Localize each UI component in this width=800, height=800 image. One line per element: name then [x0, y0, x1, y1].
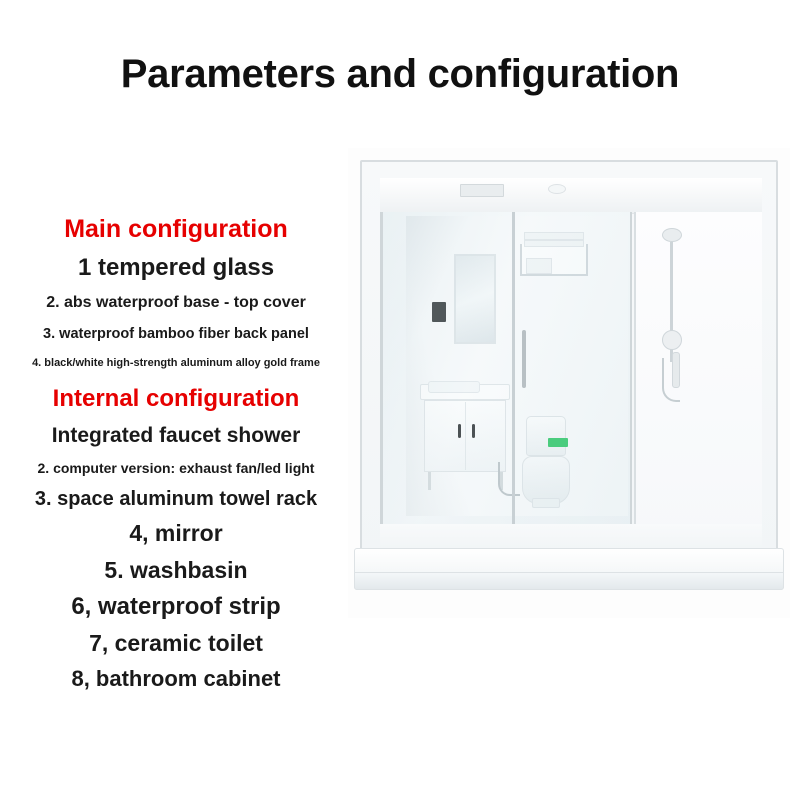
washbasin-bowl: [428, 381, 480, 393]
main-config-item-4: 4. black/white high-strength aluminum al…: [0, 357, 352, 369]
internal-config-item-8: 8, bathroom cabinet: [0, 666, 352, 692]
faucet-valve-icon: [662, 330, 682, 350]
towel-hanging: [526, 258, 552, 274]
internal-config-item-1: Integrated faucet shower: [0, 424, 352, 448]
mirror-element: [454, 254, 496, 344]
cabinet-door-split: [465, 402, 466, 470]
page-root: Parameters and configuration Main config…: [0, 0, 800, 800]
photo-frame: [348, 148, 790, 618]
led-light-icon: [548, 184, 566, 194]
specification-text-column: Main configuration 1 tempered glass 2. a…: [0, 215, 352, 692]
base-front-lip: [354, 572, 784, 590]
shower-head-icon: [662, 228, 682, 242]
page-title: Parameters and configuration: [0, 52, 800, 97]
internal-config-item-5: 5. washbasin: [0, 557, 352, 584]
internal-config-item-2: 2. computer version: exhaust fan/led lig…: [0, 460, 352, 476]
shower-cabin-body: [360, 160, 778, 572]
internal-config-item-7: 7, ceramic toilet: [0, 630, 352, 657]
towel-middle: [524, 240, 584, 247]
cabin-ceiling: [380, 178, 762, 214]
shower-compartment: [634, 212, 762, 552]
cabinet-leg-left: [428, 472, 431, 490]
glass-door-divider: [512, 212, 515, 552]
wall-fixture-icon: [432, 302, 446, 322]
main-config-item-1: 1 tempered glass: [0, 254, 352, 282]
hand-shower-icon: [672, 352, 680, 388]
internal-config-item-6: 6, waterproof strip: [0, 593, 352, 621]
glass-door-handle: [522, 330, 526, 388]
internal-config-item-3: 3. space aluminum towel rack: [0, 488, 352, 511]
main-config-item-2: 2. abs waterproof base - top cover: [0, 294, 352, 312]
internal-config-item-4: 4, mirror: [0, 520, 352, 547]
water-hose: [498, 462, 520, 496]
section-heading-internal-configuration: Internal configuration: [0, 385, 352, 413]
product-photo: [348, 148, 790, 618]
main-config-item-3: 3. waterproof bamboo fiber back panel: [0, 326, 352, 342]
section-heading-main-configuration: Main configuration: [0, 215, 352, 244]
toilet-sticker: [548, 438, 568, 447]
cabinet-handle-left: [458, 424, 461, 438]
towel-top: [524, 232, 584, 240]
toilet-base: [532, 498, 560, 508]
toilet-tank: [526, 416, 566, 456]
toilet-bowl: [522, 456, 570, 504]
exhaust-fan-icon: [460, 184, 504, 197]
cabinet-handle-right: [472, 424, 475, 438]
